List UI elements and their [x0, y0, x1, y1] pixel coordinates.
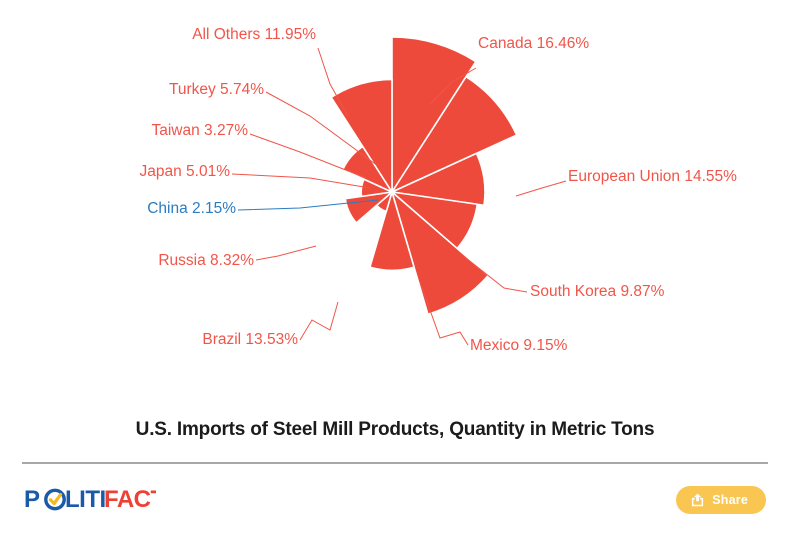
label-mexico: Mexico 9.15% — [470, 337, 568, 354]
share-button[interactable]: Share — [676, 486, 766, 514]
svg-text:FACT: FACT — [104, 486, 156, 513]
leader-line-taiwan — [250, 134, 366, 178]
infographic-root: Canada 16.46% European Union 14.55% Sout… — [0, 0, 790, 534]
label-russia: Russia 8.32% — [158, 252, 254, 269]
chart-svg: Canada 16.46% European Union 14.55% Sout… — [0, 0, 790, 400]
share-icon — [690, 493, 705, 507]
footer-divider — [22, 462, 768, 464]
chart-title-wrap: U.S. Imports of Steel Mill Products, Qua… — [0, 400, 790, 460]
leader-line-brazil — [300, 302, 338, 340]
label-south-korea: South Korea 9.87% — [530, 283, 665, 300]
label-taiwan: Taiwan 3.27% — [151, 122, 248, 139]
svg-text:P: P — [24, 486, 40, 513]
politifact-logo[interactable]: P LITI FACT — [24, 486, 156, 514]
label-brazil: Brazil 13.53% — [202, 331, 298, 348]
footer: P LITI FACT Share — [0, 466, 790, 534]
leader-line-european-union — [516, 181, 566, 196]
label-turkey: Turkey 5.74% — [169, 81, 264, 98]
label-canada: Canada 16.46% — [478, 35, 589, 52]
leader-line-japan — [232, 174, 370, 188]
polar-area-chart: Canada 16.46% European Union 14.55% Sout… — [0, 0, 790, 400]
label-japan: Japan 5.01% — [140, 163, 231, 180]
leader-line-russia — [256, 246, 316, 260]
svg-text:LITI: LITI — [65, 486, 106, 513]
politifact-logo-mark: P LITI FACT — [24, 486, 156, 514]
label-european-union: European Union 14.55% — [568, 168, 737, 185]
label-all-others: All Others 11.95% — [192, 26, 316, 43]
chart-title: U.S. Imports of Steel Mill Products, Qua… — [136, 419, 655, 441]
label-china: China 2.15% — [147, 200, 236, 217]
share-button-label: Share — [712, 494, 748, 507]
